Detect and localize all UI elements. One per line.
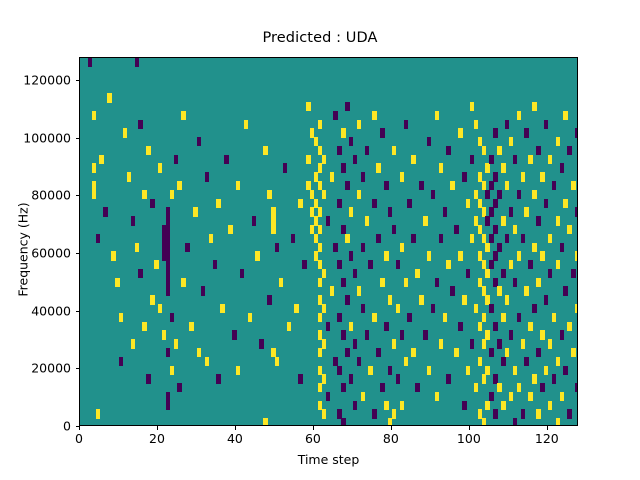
- heatmap-cell: [341, 383, 345, 392]
- heatmap-cell: [142, 322, 146, 331]
- heatmap-cell: [548, 269, 552, 278]
- heatmap-cell: [575, 383, 578, 392]
- heatmap-cell: [540, 251, 544, 260]
- heatmap-cell: [489, 348, 493, 357]
- heatmap-cell: [513, 366, 517, 375]
- heatmap-cell: [170, 313, 174, 322]
- heatmap-cell: [337, 146, 341, 155]
- heatmap-cell: [380, 278, 384, 287]
- heatmap-cell: [123, 128, 127, 137]
- heatmap-cell: [497, 339, 501, 348]
- heatmap-cell: [400, 172, 404, 181]
- heatmap-cell: [556, 260, 560, 269]
- heatmap-cell: [302, 260, 306, 269]
- heatmap-cell: [521, 172, 525, 181]
- heatmap-cell: [376, 234, 380, 243]
- heatmap-cell: [435, 111, 439, 120]
- heatmap-cell: [439, 339, 443, 348]
- y-tick-mark: [76, 368, 80, 369]
- y-tick-label: 120000: [0, 73, 71, 88]
- heatmap-cell: [439, 234, 443, 243]
- heatmap-cell: [474, 304, 478, 313]
- heatmap-cell: [482, 313, 486, 322]
- heatmap-cell: [563, 286, 567, 295]
- heatmap-cell: [388, 418, 392, 426]
- heatmap-cell: [493, 409, 497, 418]
- heatmap-cell: [497, 190, 501, 199]
- heatmap-cell: [485, 243, 489, 252]
- heatmap-cell: [372, 199, 376, 208]
- heatmap-cell: [357, 120, 361, 129]
- heatmap-cell: [485, 163, 489, 172]
- heatmap-cell: [341, 418, 345, 426]
- heatmap-cell: [556, 418, 560, 426]
- heatmap-cell: [294, 304, 298, 313]
- heatmap-cell: [240, 269, 244, 278]
- heatmap-cell: [521, 234, 525, 243]
- heatmap-cell: [216, 199, 220, 208]
- heatmap-cell: [552, 374, 556, 383]
- heatmap-cell: [489, 392, 493, 401]
- x-tick-label: 20: [149, 431, 165, 446]
- heatmap-cell: [341, 128, 345, 137]
- heatmap-cell: [392, 225, 396, 234]
- heatmap-cell: [548, 155, 552, 164]
- x-tick-label: 60: [305, 431, 321, 446]
- heatmap-cell: [396, 374, 400, 383]
- heatmap-cell: [474, 120, 478, 129]
- heatmap-cell: [92, 163, 96, 172]
- heatmap-cell: [423, 216, 427, 225]
- heatmap-cell: [306, 155, 310, 164]
- heatmap-cell: [341, 330, 345, 339]
- x-tick-label: 80: [383, 431, 399, 446]
- heatmap-cell: [365, 216, 369, 225]
- heatmap-cell: [485, 269, 489, 278]
- x-tick-mark: [547, 426, 548, 430]
- heatmap-cell: [536, 146, 540, 155]
- y-tick-mark: [76, 195, 80, 196]
- heatmap-cell: [501, 313, 505, 322]
- heatmap-cell: [509, 330, 513, 339]
- heatmap-cell: [150, 199, 154, 208]
- heatmap-cell: [326, 216, 330, 225]
- heatmap-cell: [497, 383, 501, 392]
- heatmap-cell: [400, 401, 404, 410]
- heatmap-grid: [80, 58, 577, 425]
- heatmap-cell: [283, 163, 287, 172]
- heatmap-cell: [485, 330, 489, 339]
- heatmap-cell: [263, 146, 267, 155]
- heatmap-cell: [513, 278, 517, 287]
- heatmap-cell: [489, 181, 493, 190]
- heatmap-cell: [388, 366, 392, 375]
- heatmap-cell: [431, 304, 435, 313]
- heatmap-cell: [501, 357, 505, 366]
- heatmap-cell: [462, 401, 466, 410]
- heatmap-cell: [368, 260, 372, 269]
- heatmap-cell: [489, 207, 493, 216]
- heatmap-cell: [528, 260, 532, 269]
- heatmap-cell: [337, 260, 341, 269]
- heatmap-cell: [536, 216, 540, 225]
- heatmap-cell: [248, 313, 252, 322]
- heatmap-cell: [197, 137, 201, 146]
- heatmap-cell: [427, 251, 431, 260]
- x-tick-mark: [391, 426, 392, 430]
- heatmap-cell: [404, 357, 408, 366]
- heatmap-cell: [111, 251, 115, 260]
- heatmap-cell: [400, 243, 404, 252]
- heatmap-cell: [119, 313, 123, 322]
- heatmap-cell: [505, 348, 509, 357]
- heatmap-cell: [517, 111, 521, 120]
- heatmap-cell: [232, 330, 236, 339]
- heatmap-cell: [345, 295, 349, 304]
- heatmap-cell: [322, 190, 326, 199]
- heatmap-cell: [517, 313, 521, 322]
- heatmap-cell: [318, 278, 322, 287]
- heatmap-cell: [454, 348, 458, 357]
- heatmap-cell: [236, 181, 240, 190]
- heatmap-cell: [353, 339, 357, 348]
- heatmap-cell: [407, 313, 411, 322]
- heatmap-cell: [326, 392, 330, 401]
- heatmap-cell: [158, 304, 162, 313]
- heatmap-cell: [501, 216, 505, 225]
- heatmap-cell: [353, 155, 357, 164]
- heatmap-cell: [450, 181, 454, 190]
- y-tick-mark: [76, 138, 80, 139]
- heatmap-cell: [131, 216, 135, 225]
- heatmap-cell: [524, 207, 528, 216]
- heatmap-cell: [318, 225, 322, 234]
- heatmap-cell: [107, 93, 111, 102]
- heatmap-cell: [341, 278, 345, 287]
- heatmap-cell: [365, 146, 369, 155]
- heatmap-cell: [509, 260, 513, 269]
- y-axis-label: Frequency (Hz): [16, 149, 31, 349]
- heatmap-cell: [509, 207, 513, 216]
- heatmap-cell: [341, 163, 345, 172]
- heatmap-cell: [174, 155, 178, 164]
- heatmap-cell: [419, 181, 423, 190]
- heatmap-cell: [372, 111, 376, 120]
- heatmap-cell: [517, 190, 521, 199]
- heatmap-cell: [263, 418, 267, 426]
- x-tick-mark: [235, 426, 236, 430]
- heatmap-cell: [318, 207, 322, 216]
- heatmap-cell: [485, 366, 489, 375]
- heatmap-cell: [544, 295, 548, 304]
- heatmap-cell: [388, 295, 392, 304]
- heatmap-cell: [189, 322, 193, 331]
- x-tick-label: 40: [227, 431, 243, 446]
- heatmap-cell: [361, 243, 365, 252]
- heatmap-cell: [470, 234, 474, 243]
- heatmap-cell: [392, 146, 396, 155]
- heatmap-cell: [158, 163, 162, 172]
- heatmap-cell: [509, 137, 513, 146]
- heatmap-cell: [174, 339, 178, 348]
- heatmap-cell: [470, 155, 474, 164]
- heatmap-cell: [443, 207, 447, 216]
- heatmap-cell: [353, 269, 357, 278]
- heatmap-cell: [322, 269, 326, 278]
- heatmap-axes[interactable]: [79, 57, 578, 426]
- heatmap-cell: [532, 304, 536, 313]
- heatmap-cell: [380, 383, 384, 392]
- heatmap-cell: [396, 260, 400, 269]
- heatmap-cell: [450, 286, 454, 295]
- x-tick-label: 0: [75, 431, 83, 446]
- heatmap-cell: [201, 286, 205, 295]
- heatmap-cell: [482, 418, 486, 426]
- heatmap-cell: [322, 409, 326, 418]
- heatmap-cell: [571, 269, 575, 278]
- heatmap-cell: [92, 111, 96, 120]
- heatmap-cell: [146, 374, 150, 383]
- heatmap-cell: [501, 401, 505, 410]
- heatmap-cell: [528, 322, 532, 331]
- heatmap-cell: [493, 322, 497, 331]
- heatmap-cell: [388, 207, 392, 216]
- heatmap-cell: [501, 269, 505, 278]
- heatmap-cell: [560, 392, 564, 401]
- heatmap-cell: [333, 111, 337, 120]
- heatmap-cell: [513, 225, 517, 234]
- heatmap-cell: [96, 234, 100, 243]
- heatmap-cell: [318, 243, 322, 252]
- heatmap-cell: [505, 181, 509, 190]
- heatmap-cell: [423, 330, 427, 339]
- heatmap-cell: [357, 190, 361, 199]
- heatmap-cell: [236, 366, 240, 375]
- heatmap-cell: [517, 383, 521, 392]
- heatmap-cell: [532, 243, 536, 252]
- heatmap-cell: [521, 409, 525, 418]
- heatmap-cell: [298, 374, 302, 383]
- heatmap-cell: [470, 102, 474, 111]
- heatmap-cell: [150, 295, 154, 304]
- heatmap-cell: [532, 190, 536, 199]
- heatmap-cell: [493, 172, 497, 181]
- x-tick-mark: [79, 426, 80, 430]
- x-tick-mark: [469, 426, 470, 430]
- heatmap-cell: [431, 190, 435, 199]
- heatmap-cell: [372, 409, 376, 418]
- heatmap-cell: [427, 366, 431, 375]
- heatmap-cell: [255, 251, 259, 260]
- heatmap-cell: [560, 163, 564, 172]
- heatmap-cell: [326, 322, 330, 331]
- heatmap-cell: [318, 120, 322, 129]
- heatmap-cell: [536, 348, 540, 357]
- heatmap-cell: [501, 163, 505, 172]
- heatmap-cell: [127, 172, 131, 181]
- heatmap-cell: [482, 146, 486, 155]
- heatmap-cell: [552, 181, 556, 190]
- heatmap-cell: [166, 286, 170, 295]
- heatmap-cell: [435, 278, 439, 287]
- y-tick-mark: [76, 426, 80, 427]
- heatmap-cell: [466, 269, 470, 278]
- heatmap-cell: [563, 199, 567, 208]
- heatmap-cell: [361, 304, 365, 313]
- heatmap-cell: [193, 207, 197, 216]
- heatmap-cell: [349, 322, 353, 331]
- heatmap-cell: [392, 409, 396, 418]
- heatmap-cell: [435, 392, 439, 401]
- heatmap-cell: [365, 330, 369, 339]
- heatmap-cell: [213, 260, 217, 269]
- y-tick-label: 80000: [0, 188, 71, 203]
- heatmap-cell: [536, 278, 540, 287]
- heatmap-cell: [291, 234, 295, 243]
- heatmap-cell: [540, 383, 544, 392]
- heatmap-cell: [462, 295, 466, 304]
- heatmap-cell: [439, 163, 443, 172]
- heatmap-cell: [396, 304, 400, 313]
- heatmap-cell: [181, 111, 185, 120]
- heatmap-cell: [372, 313, 376, 322]
- heatmap-cell: [548, 339, 552, 348]
- heatmap-cell: [345, 181, 349, 190]
- heatmap-cell: [571, 348, 575, 357]
- heatmap-cell: [474, 383, 478, 392]
- figure-canvas: Predicted : UDA 020406080100120 02000040…: [0, 0, 640, 480]
- heatmap-cell: [345, 102, 349, 111]
- heatmap-cell: [131, 339, 135, 348]
- heatmap-cell: [345, 348, 349, 357]
- heatmap-cell: [544, 199, 548, 208]
- heatmap-cell: [170, 366, 174, 375]
- heatmap-cell: [505, 120, 509, 129]
- heatmap-cell: [411, 155, 415, 164]
- heatmap-cell: [575, 251, 578, 260]
- heatmap-cell: [376, 348, 380, 357]
- heatmap-cell: [411, 234, 415, 243]
- heatmap-cell: [485, 216, 489, 225]
- heatmap-cell: [181, 278, 185, 287]
- heatmap-cell: [88, 58, 92, 67]
- heatmap-cell: [497, 286, 501, 295]
- heatmap-cell: [513, 155, 517, 164]
- heatmap-cell: [185, 243, 189, 252]
- heatmap-cell: [489, 234, 493, 243]
- heatmap-cell: [552, 313, 556, 322]
- heatmap-cell: [146, 146, 150, 155]
- heatmap-cell: [162, 330, 166, 339]
- heatmap-cell: [489, 155, 493, 164]
- x-tick-label: 100: [457, 431, 481, 446]
- heatmap-cell: [357, 357, 361, 366]
- heatmap-cell: [154, 260, 158, 269]
- heatmap-cell: [443, 313, 447, 322]
- heatmap-cell: [575, 128, 578, 137]
- heatmap-cell: [103, 207, 107, 216]
- heatmap-cell: [252, 216, 256, 225]
- x-tick-mark: [157, 426, 158, 430]
- heatmap-cell: [466, 199, 470, 208]
- heatmap-cell: [497, 243, 501, 252]
- heatmap-cell: [318, 313, 322, 322]
- heatmap-cell: [322, 339, 326, 348]
- heatmap-cell: [380, 128, 384, 137]
- y-tick-label: 20000: [0, 361, 71, 376]
- heatmap-cell: [505, 295, 509, 304]
- heatmap-cell: [361, 392, 365, 401]
- heatmap-cell: [544, 366, 548, 375]
- heatmap-cell: [419, 295, 423, 304]
- heatmap-cell: [96, 409, 100, 418]
- heatmap-cell: [349, 374, 353, 383]
- heatmap-cell: [318, 163, 322, 172]
- heatmap-cell: [524, 357, 528, 366]
- heatmap-cell: [560, 330, 564, 339]
- heatmap-cell: [267, 190, 271, 199]
- heatmap-cell: [567, 322, 571, 331]
- heatmap-cell: [493, 225, 497, 234]
- heatmap-cell: [384, 322, 388, 331]
- heatmap-cell: [493, 251, 497, 260]
- heatmap-cell: [322, 304, 326, 313]
- heatmap-cell: [513, 418, 517, 426]
- heatmap-cell: [411, 348, 415, 357]
- heatmap-cell: [197, 348, 201, 357]
- heatmap-cell: [384, 401, 388, 410]
- heatmap-cell: [349, 207, 353, 216]
- heatmap-cell: [540, 172, 544, 181]
- heatmap-cell: [482, 339, 486, 348]
- heatmap-cell: [259, 339, 263, 348]
- heatmap-cell: [485, 190, 489, 199]
- heatmap-cell: [415, 383, 419, 392]
- heatmap-cell: [357, 286, 361, 295]
- heatmap-cell: [330, 286, 334, 295]
- heatmap-cell: [482, 374, 486, 383]
- heatmap-cell: [458, 322, 462, 331]
- heatmap-cell: [478, 322, 482, 331]
- heatmap-cell: [392, 339, 396, 348]
- heatmap-cell: [205, 172, 209, 181]
- heatmap-cell: [267, 295, 271, 304]
- heatmap-cell: [135, 243, 139, 252]
- heatmap-cell: [275, 243, 279, 252]
- heatmap-cell: [353, 401, 357, 410]
- heatmap-cell: [470, 339, 474, 348]
- heatmap-cell: [571, 181, 575, 190]
- heatmap-cell: [567, 146, 571, 155]
- heatmap-cell: [497, 146, 501, 155]
- heatmap-cell: [345, 234, 349, 243]
- heatmap-cell: [138, 120, 142, 129]
- heatmap-cell: [224, 155, 228, 164]
- heatmap-cell: [415, 269, 419, 278]
- heatmap-cell: [368, 366, 372, 375]
- heatmap-cell: [517, 251, 521, 260]
- heatmap-cell: [384, 181, 388, 190]
- heatmap-cell: [493, 199, 497, 208]
- heatmap-cell: [287, 322, 291, 331]
- heatmap-cell: [489, 260, 493, 269]
- heatmap-cell: [318, 383, 322, 392]
- heatmap-cell: [166, 401, 170, 410]
- heatmap-cell: [349, 137, 353, 146]
- y-tick-mark: [76, 311, 80, 312]
- heatmap-cell: [99, 155, 103, 164]
- heatmap-cell: [524, 286, 528, 295]
